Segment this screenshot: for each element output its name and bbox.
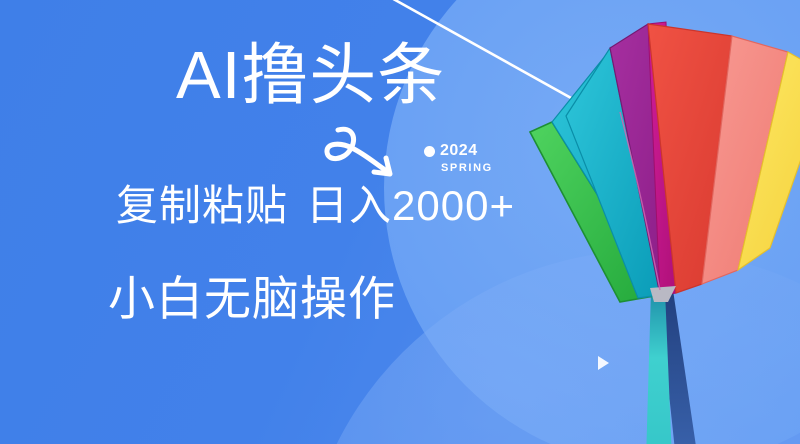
subline-right: 日入2000+ bbox=[306, 182, 515, 229]
badge-year-row: 2024 bbox=[424, 143, 478, 159]
rainbow-delta-kite bbox=[470, 0, 800, 444]
subline-left: 复制粘贴 bbox=[116, 182, 288, 229]
season-badge: 2024 SPRING bbox=[424, 143, 493, 174]
curly-arrow-icon bbox=[318, 122, 404, 186]
badge-season: SPRING bbox=[441, 163, 493, 174]
tagline: 小白无脑操作 bbox=[108, 275, 396, 322]
page-title: AI撸头条 bbox=[176, 42, 445, 109]
subline: 复制粘贴日入2000+ bbox=[116, 185, 515, 227]
play-triangle-icon bbox=[598, 356, 609, 370]
badge-year: 2024 bbox=[440, 143, 478, 159]
promo-poster: AI撸头条 2024 SPRING 复制粘贴日入2000+ 小白无脑操作 bbox=[0, 0, 800, 444]
badge-dot-icon bbox=[424, 146, 435, 157]
